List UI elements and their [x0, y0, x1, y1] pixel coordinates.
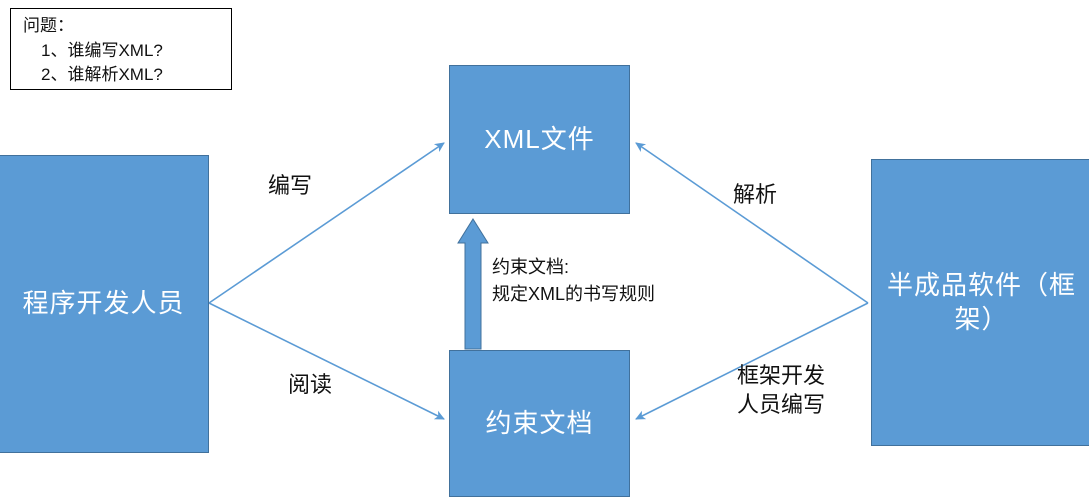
node-framework[interactable]: 半成品软件（框架）	[871, 159, 1089, 446]
edge-label-spec: 约束文档: 规定XML的书写规则	[492, 254, 655, 308]
question-item-2: 2、谁解析XML?	[23, 63, 231, 88]
diagram-canvas: 问题： 1、谁编写XML? 2、谁解析XML? 程序开发人员 XML文件 约束文…	[0, 0, 1089, 504]
question-heading: 问题：	[23, 14, 231, 39]
node-developer-label: 程序开发人员	[22, 287, 184, 320]
question-item-1: 1、谁编写XML?	[23, 39, 231, 64]
edge-parse-line	[636, 143, 868, 303]
edge-label-framework-write: 框架开发 人员编写	[737, 362, 825, 419]
node-framework-label: 半成品软件（框架）	[882, 269, 1081, 336]
node-xml-file[interactable]: XML文件	[449, 65, 630, 214]
node-constraint-doc-label: 约束文档	[485, 407, 593, 440]
edge-write-line	[209, 143, 444, 303]
node-constraint-doc[interactable]: 约束文档	[449, 350, 630, 497]
node-xml-file-label: XML文件	[484, 123, 594, 156]
node-developer[interactable]: 程序开发人员	[0, 155, 209, 453]
edge-label-parse: 解析	[733, 181, 777, 210]
question-box: 问题： 1、谁编写XML? 2、谁解析XML?	[10, 8, 232, 90]
edge-spec-block-arrow	[458, 219, 488, 349]
edge-read-line	[209, 303, 444, 419]
edge-label-read: 阅读	[288, 371, 332, 400]
edge-label-write: 编写	[268, 172, 312, 201]
